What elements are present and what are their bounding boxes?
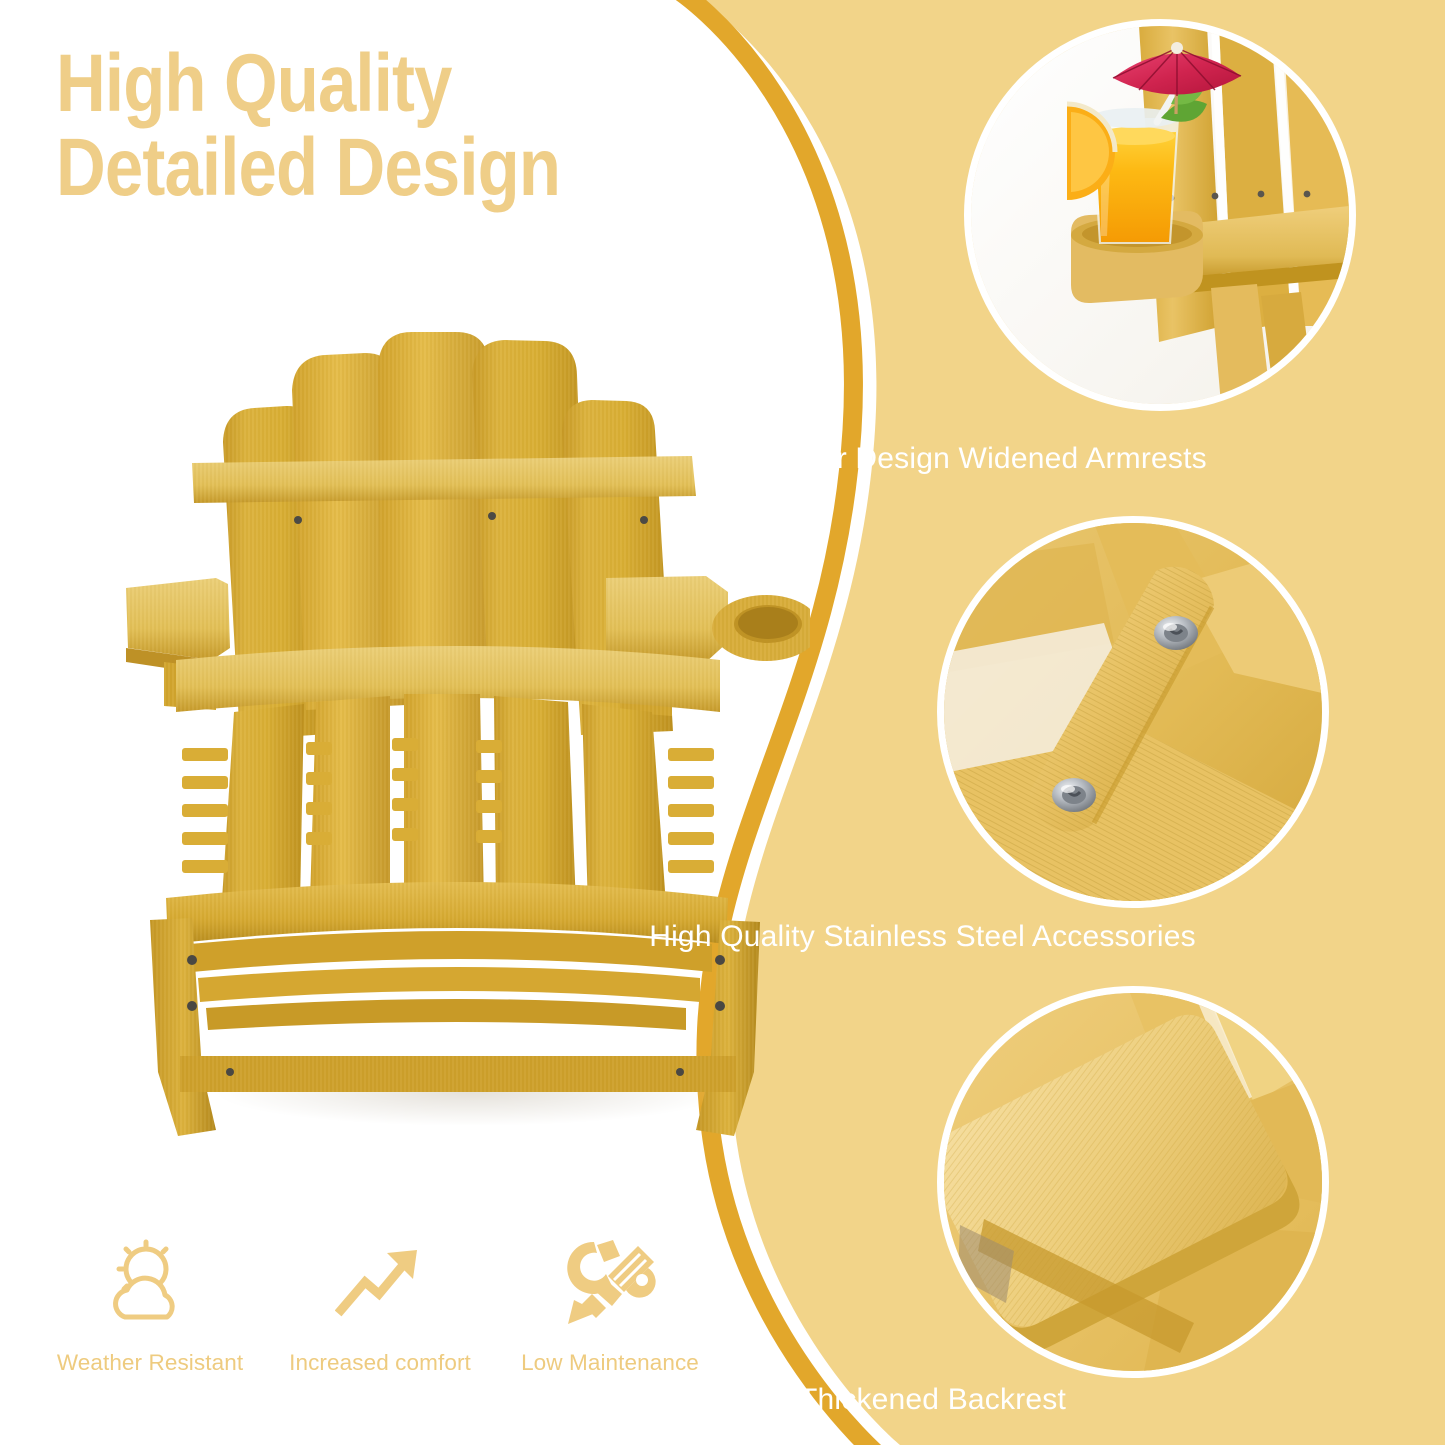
page-title: High Quality Detailed Design: [56, 42, 610, 209]
screw: [715, 1001, 725, 1011]
detail-caption-thickened-backrest: Thickened Backrest: [0, 1383, 1445, 1417]
under-seat-slat: [198, 967, 700, 1002]
feature-weather-resistant: Weather Resistant: [40, 1232, 260, 1376]
screw: [640, 516, 648, 524]
detail-caption-stainless-steel: High Quality Stainless Steel Accessories: [0, 920, 1445, 954]
detail-caption-cup-holder: Cup Holder Design Widened Armrests: [0, 442, 1445, 476]
under-seat-slat: [206, 999, 686, 1030]
screw: [715, 955, 725, 965]
feature-increased-comfort: Increased comfort: [270, 1232, 490, 1376]
sun-behind-cloud-icon: [102, 1232, 198, 1334]
screw: [488, 512, 496, 520]
cup-holder-with-orange-juice-photo: [971, 26, 1349, 404]
stainless-screw-bottom: [1052, 778, 1096, 812]
screw: [294, 516, 302, 524]
detail-circle-cup-holder: [964, 19, 1356, 411]
upward-trend-arrow-icon: [335, 1232, 425, 1334]
thickened-backrest-board-photo: [944, 993, 1322, 1371]
wrench-screwdriver-icon: [564, 1232, 656, 1334]
screw: [676, 1068, 684, 1076]
feature-label: Increased comfort: [289, 1350, 471, 1376]
feature-row: Weather Resistant Increased comfort: [40, 1232, 720, 1376]
feature-label: Low Maintenance: [521, 1350, 699, 1376]
screw: [187, 1001, 197, 1011]
infographic-canvas: High Quality Detailed Design: [0, 0, 1445, 1445]
lower-back-slat-group: [222, 694, 666, 908]
detail-circle-stainless-steel: [937, 516, 1329, 908]
feature-low-maintenance: Low Maintenance: [500, 1232, 720, 1376]
detail-circle-thickened-backrest: [937, 986, 1329, 1378]
screw: [187, 955, 197, 965]
stainless-steel-screw-bracket-photo: [944, 523, 1322, 901]
stainless-screw-top: [1154, 616, 1198, 650]
screw: [226, 1068, 234, 1076]
feature-label: Weather Resistant: [57, 1350, 243, 1376]
